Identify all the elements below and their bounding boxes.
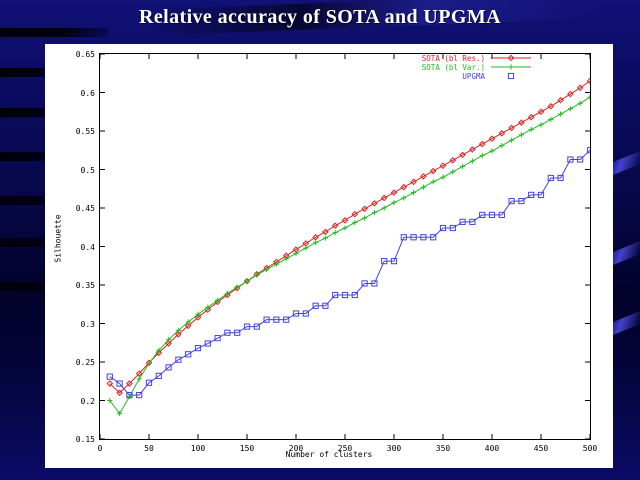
legend-key-cross-icon [489,63,533,71]
x-tick-label: 200 [282,444,310,453]
x-tick-label: 150 [233,444,261,453]
background-band [0,28,108,37]
legend-label: SOTA (bl Res.) [422,54,485,63]
y-tick-label: 0.45 [65,204,95,213]
legend-key-square-icon [489,72,533,80]
plot-area [99,53,591,440]
axis-ticks [100,54,590,439]
legend-label: UPGMA [462,72,485,81]
y-tick-label: 0.6 [65,89,95,98]
x-tick-label: 250 [331,444,359,453]
y-tick-label: 0.3 [65,320,95,329]
legend-label: SOTA (bl Var.) [422,63,485,72]
y-tick-label: 0.5 [65,166,95,175]
series-sota-bl-res [107,78,590,395]
y-tick-label: 0.55 [65,127,95,136]
y-tick-label: 0.15 [65,435,95,444]
data-series [107,78,590,416]
series-upgma [107,148,590,398]
x-tick-label: 500 [576,444,604,453]
series-sota-bl-var [107,95,590,417]
chart-figure: Silhouette Number of clusters 0501001502… [45,44,613,468]
legend-item[interactable]: SOTA (bl Res.) [393,54,533,62]
y-tick-label: 0.2 [65,397,95,406]
x-tick-label: 450 [527,444,555,453]
x-tick-label: 400 [478,444,506,453]
x-tick-label: 100 [184,444,212,453]
legend-item[interactable]: SOTA (bl Var.) [393,63,533,71]
y-tick-label: 0.65 [65,50,95,59]
chart-legend: SOTA (bl Res.)SOTA (bl Var.)UPGMA [393,54,533,81]
legend-item[interactable]: UPGMA [393,72,533,80]
x-tick-label: 350 [429,444,457,453]
y-tick-label: 0.4 [65,243,95,252]
x-tick-label: 0 [86,444,114,453]
legend-key-diamond-icon [489,54,533,62]
y-axis-label: Silhouette [54,194,63,284]
y-tick-label: 0.25 [65,358,95,367]
x-tick-label: 50 [135,444,163,453]
y-tick-label: 0.35 [65,281,95,290]
page-title: Relative accuracy of SOTA and UPGMA [0,6,640,29]
plot-canvas [100,54,590,439]
x-tick-label: 300 [380,444,408,453]
